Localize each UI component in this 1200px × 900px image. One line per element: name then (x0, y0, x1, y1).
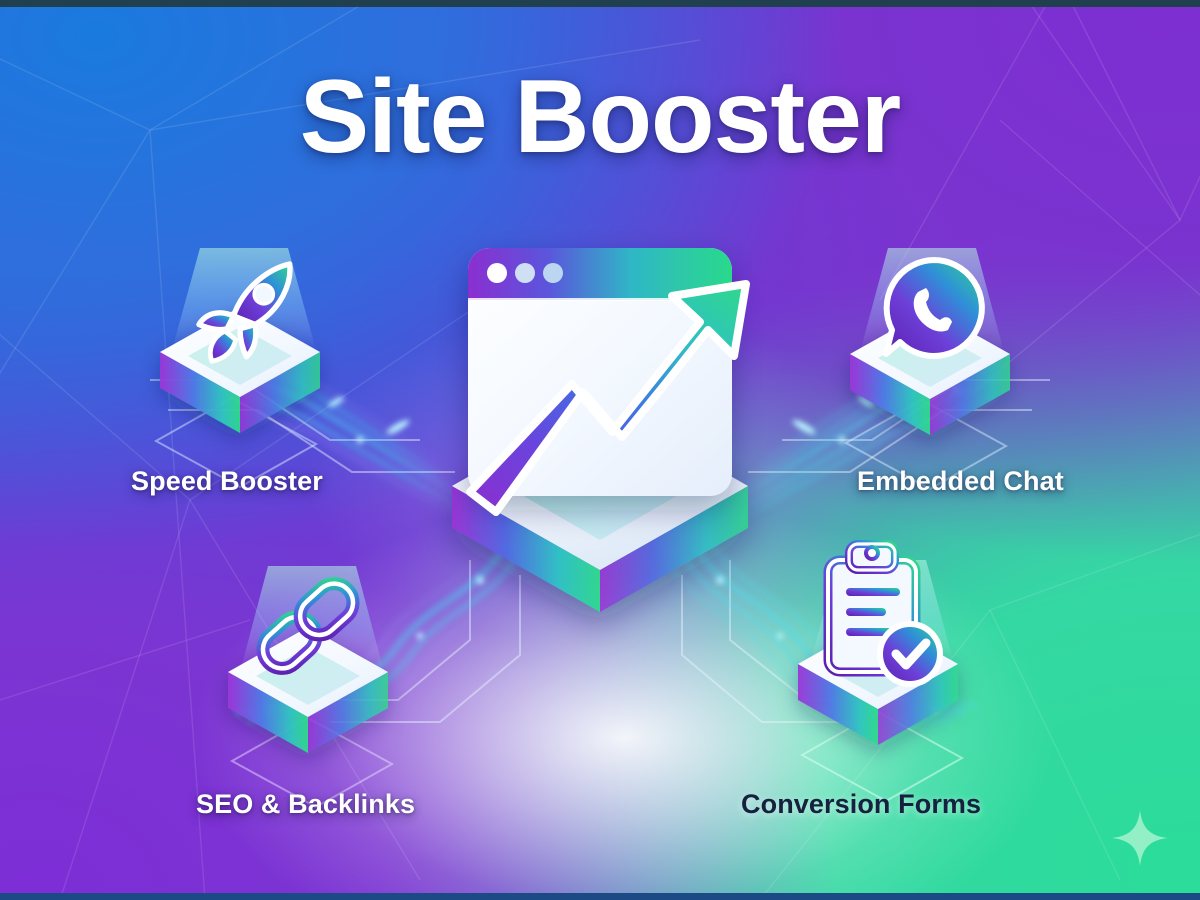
node-label-speed-booster: Speed Booster (131, 466, 323, 497)
node-label-seo-backlinks: SEO & Backlinks (196, 789, 415, 820)
node-label-conversion-forms: Conversion Forms (741, 789, 981, 820)
node-label-embedded-chat: Embedded Chat (857, 466, 1064, 497)
window-dot-1 (487, 263, 507, 283)
sparkle-icon (1108, 806, 1172, 870)
top-chrome-bar (0, 0, 1200, 7)
window-dot-2 (515, 263, 535, 283)
poster-canvas: Speed Booster Embedded Chat (0, 0, 1200, 900)
bottom-chrome-bar (0, 893, 1200, 900)
page-title: Site Booster (0, 58, 1200, 177)
window-dot-3 (543, 263, 563, 283)
